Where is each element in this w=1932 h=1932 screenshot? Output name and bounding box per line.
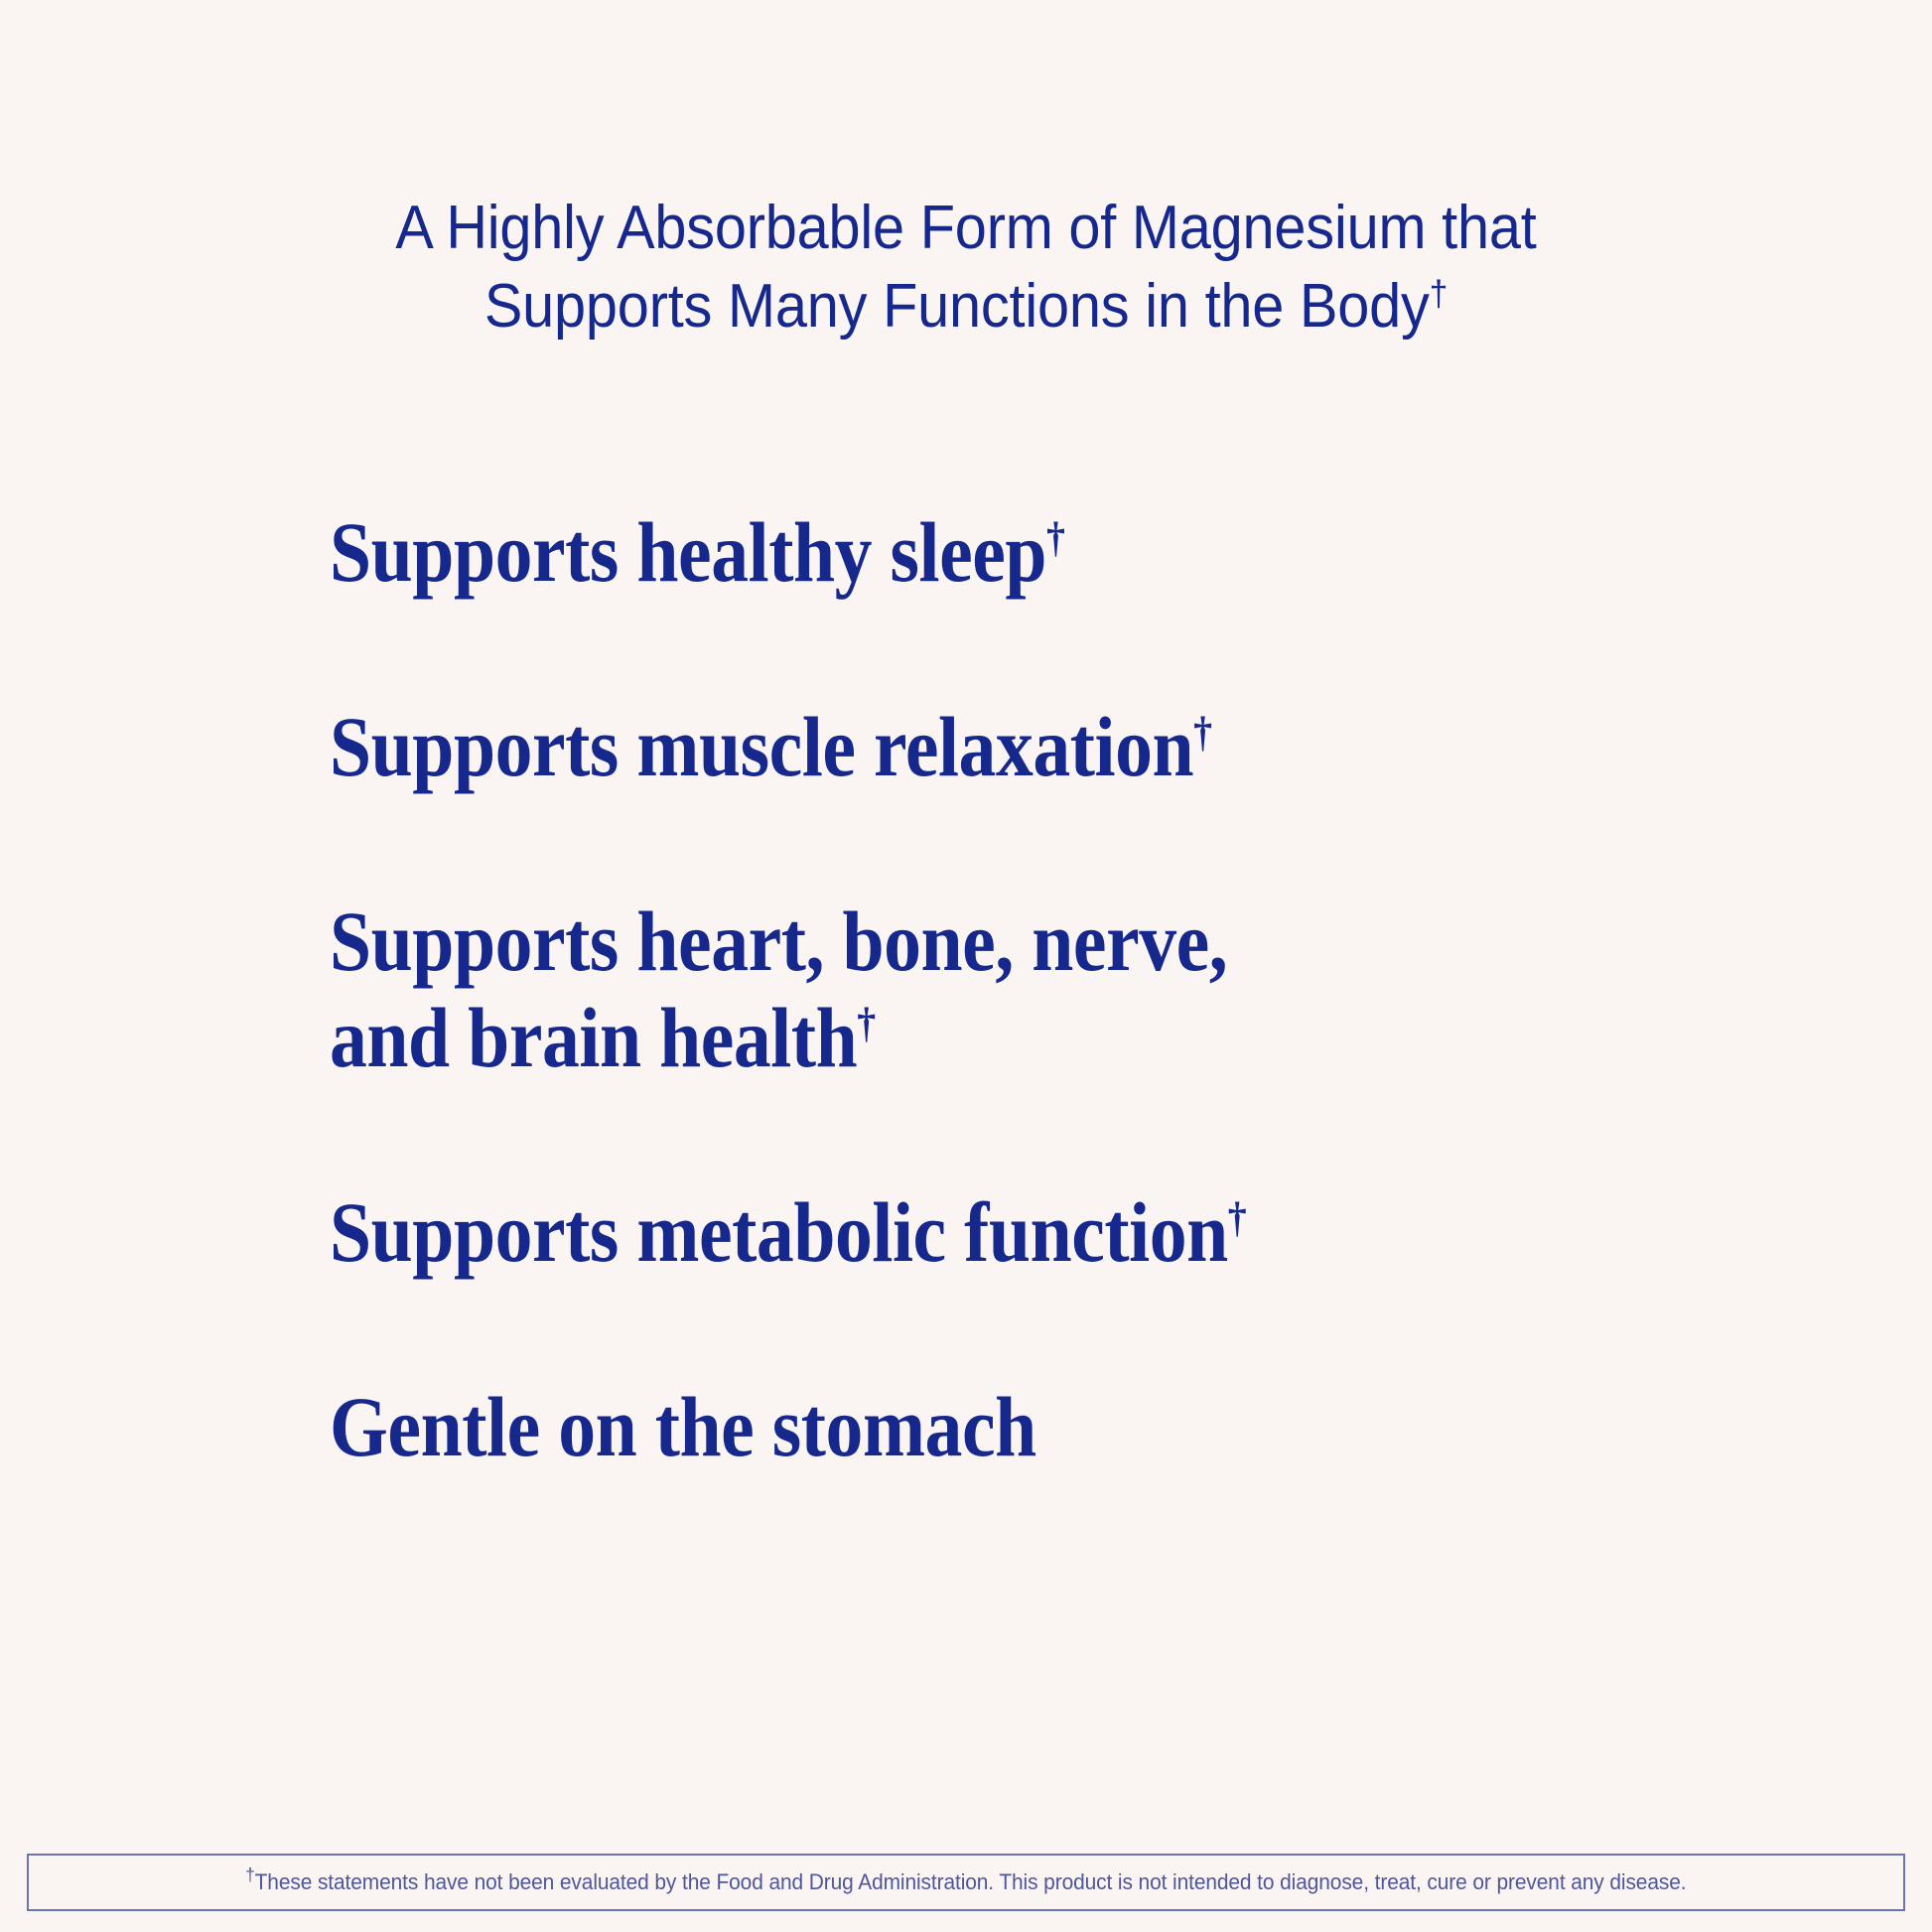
headline-container: A Highly Absorbable Form of Magnesium th… <box>0 0 1932 387</box>
leaf-icon <box>220 907 306 989</box>
benefit-dagger: † <box>1046 514 1064 561</box>
list-item: Supports heart, bone, nerve, and brain h… <box>220 894 1813 1085</box>
benefit-text: Supports heart, bone, nerve, and brain h… <box>330 894 1227 1084</box>
leaf-icon <box>220 518 306 600</box>
benefit-dagger: † <box>1228 1194 1246 1241</box>
leaf-icon <box>220 713 306 794</box>
list-item: Supports healthy sleep† <box>220 504 1813 600</box>
benefits-list: Supports healthy sleep† Supports muscle … <box>0 504 1932 1475</box>
list-item: Supports metabolic function† <box>220 1184 1813 1280</box>
benefit-label: Supports heart, bone, nerve, and brain h… <box>330 894 1227 1085</box>
benefit-label: Supports metabolic function† <box>330 1184 1246 1280</box>
list-item: Gentle on the stomach <box>220 1379 1813 1474</box>
benefit-label: Supports healthy sleep† <box>330 504 1065 600</box>
disclaimer-dagger: † <box>245 1865 254 1885</box>
benefit-label: Gentle on the stomach <box>330 1379 1036 1474</box>
disclaimer-text: †These statements have not been evaluate… <box>245 1869 1686 1895</box>
leaf-icon <box>220 1393 306 1474</box>
benefit-text: Supports metabolic function <box>330 1184 1228 1280</box>
product-benefits-panel: A Highly Absorbable Form of Magnesium th… <box>0 0 1932 1932</box>
benefit-text: Gentle on the stomach <box>330 1379 1036 1474</box>
benefit-text: Supports healthy sleep <box>330 504 1046 600</box>
benefit-label: Supports muscle relaxation† <box>330 699 1212 794</box>
benefit-dagger: † <box>1193 709 1211 756</box>
headline-text: A Highly Absorbable Form of Magnesium th… <box>395 194 1536 341</box>
benefit-text: Supports muscle relaxation <box>330 699 1193 794</box>
benefit-dagger: † <box>857 1000 875 1046</box>
page-title: A Highly Absorbable Form of Magnesium th… <box>280 189 1652 346</box>
headline-dagger: † <box>1430 272 1448 313</box>
list-item: Supports muscle relaxation† <box>220 699 1813 794</box>
disclaimer-body: These statements have not been evaluated… <box>255 1869 1687 1894</box>
disclaimer-box: †These statements have not been evaluate… <box>27 1854 1905 1911</box>
leaf-icon <box>220 1198 306 1280</box>
